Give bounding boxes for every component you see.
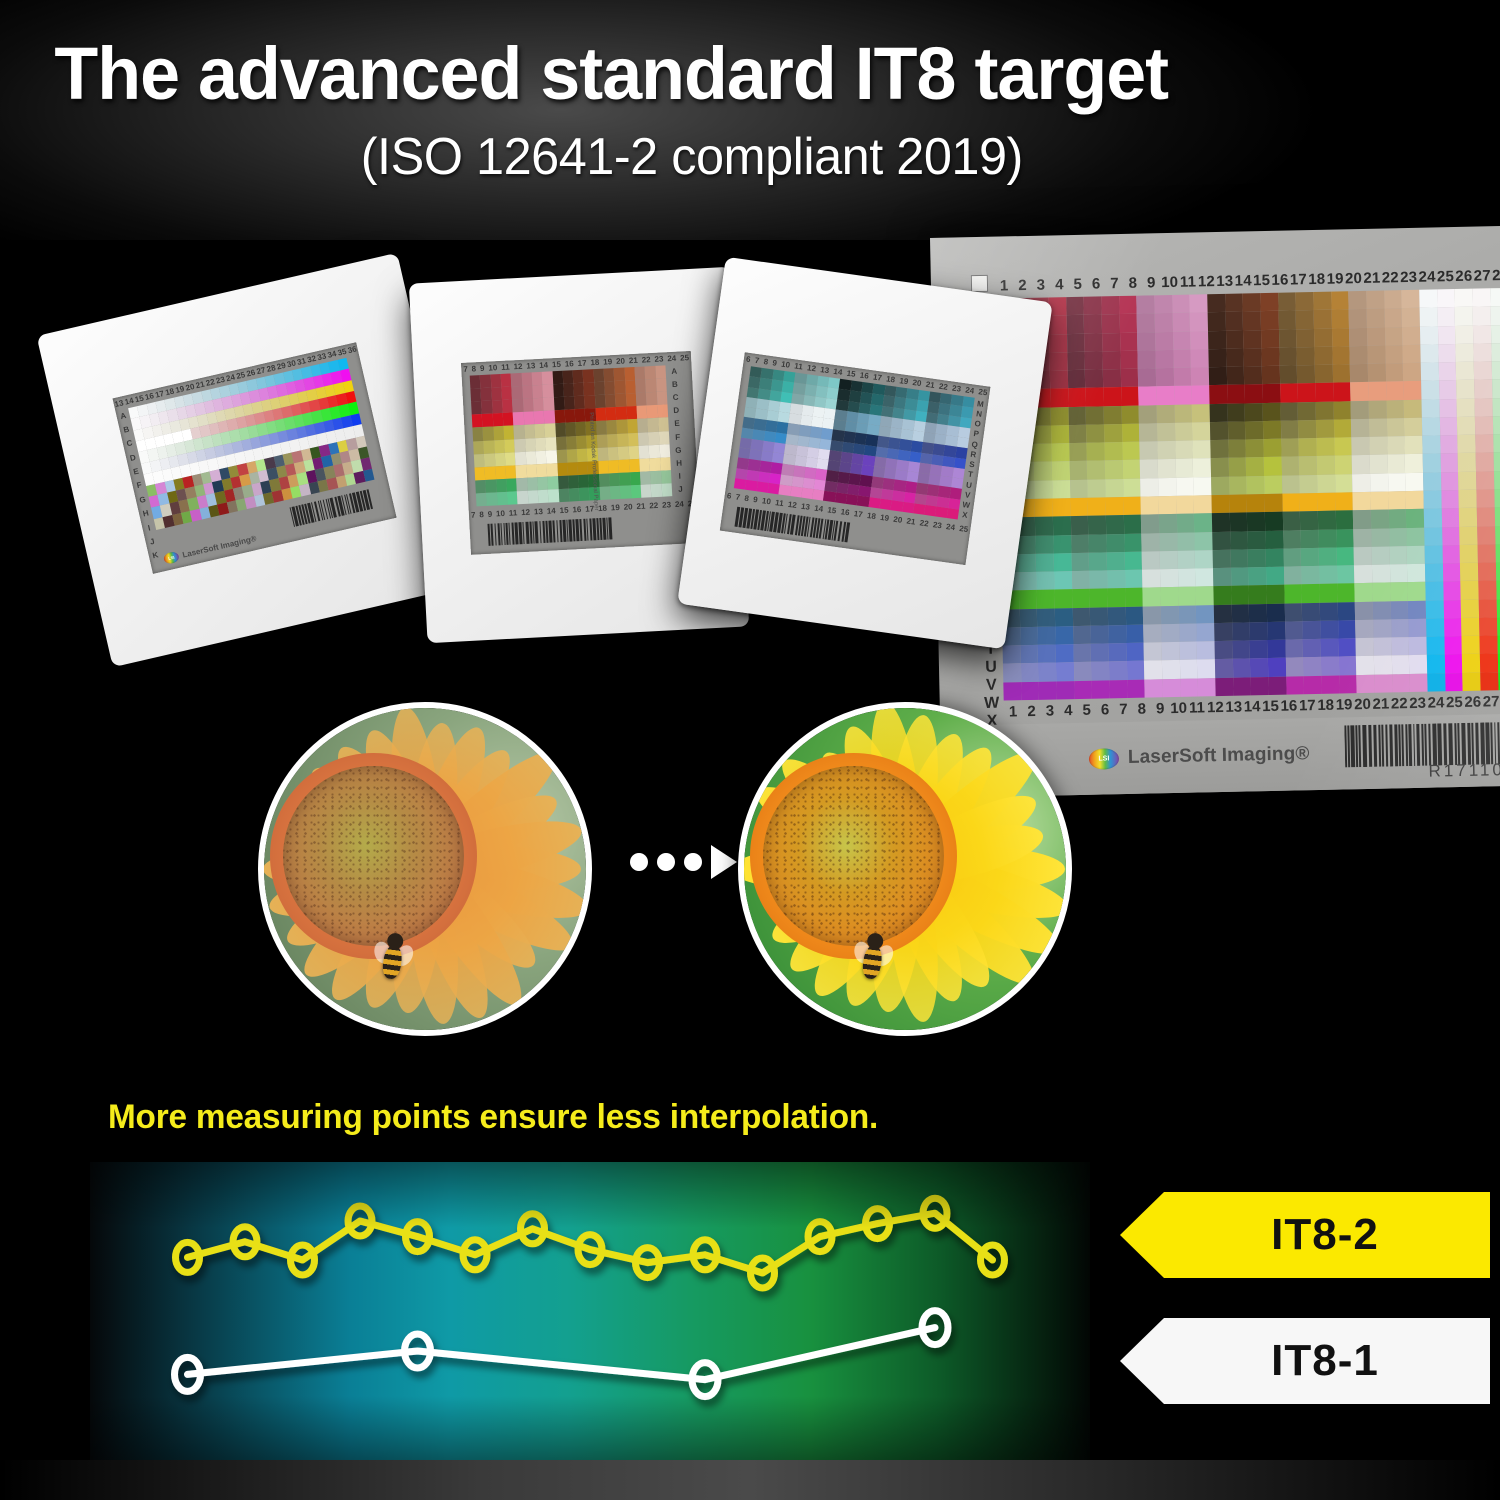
color-patch	[1490, 288, 1500, 307]
color-patch	[1121, 387, 1139, 406]
color-patch	[1297, 383, 1315, 402]
color-patch	[1084, 333, 1102, 352]
row-letter: J	[678, 485, 683, 494]
color-patch	[1105, 497, 1123, 516]
column-number: 8	[1124, 274, 1143, 291]
color-patch	[1496, 562, 1500, 581]
column-number: 9	[1142, 274, 1161, 291]
color-patch	[1478, 562, 1496, 581]
color-patch	[506, 478, 517, 492]
color-patch	[1143, 588, 1161, 607]
slide-right: 678910111213141516171819202122232425 MNO…	[677, 257, 1052, 650]
color-patch	[1003, 664, 1021, 683]
row-letter: X	[962, 511, 969, 521]
color-patch	[1194, 513, 1212, 532]
color-patch	[1283, 548, 1301, 567]
color-patch	[1368, 382, 1386, 401]
color-patch	[1421, 399, 1439, 418]
color-patch	[546, 450, 557, 464]
color-patch	[1476, 453, 1494, 472]
color-patch	[1127, 661, 1145, 680]
color-patch	[1066, 297, 1084, 316]
color-patch	[1179, 623, 1197, 642]
color-patch	[1284, 585, 1302, 604]
color-patch	[562, 370, 573, 384]
color-patch	[1352, 455, 1370, 474]
color-patch	[1421, 381, 1439, 400]
row-letter: O	[974, 419, 981, 429]
color-patch	[638, 432, 649, 446]
column-number: 26	[1454, 267, 1473, 284]
color-patch	[1212, 531, 1230, 550]
color-patch	[1300, 511, 1318, 530]
color-patch	[1142, 551, 1160, 570]
color-patch	[1139, 423, 1157, 442]
color-patch	[1228, 421, 1246, 440]
column-number: 19	[899, 376, 909, 386]
color-patch	[1049, 334, 1067, 353]
color-patch	[1229, 494, 1247, 513]
color-patch	[1278, 311, 1296, 330]
color-patch	[1162, 679, 1180, 698]
color-patch	[626, 406, 637, 420]
color-patch	[648, 431, 659, 445]
color-patch	[1349, 291, 1367, 310]
color-patch	[1407, 564, 1425, 583]
color-patch	[1443, 600, 1461, 619]
color-patch	[1086, 388, 1104, 407]
column-number: 24	[225, 373, 236, 384]
color-patch	[1339, 657, 1357, 676]
color-patch	[1249, 622, 1267, 641]
color-patch	[1386, 381, 1404, 400]
color-patch	[1474, 361, 1492, 380]
column-number: 9	[1151, 700, 1170, 717]
color-patch	[1406, 509, 1424, 528]
color-patch	[1370, 455, 1388, 474]
color-patch	[1303, 639, 1321, 658]
color-patch	[576, 435, 587, 449]
color-patch	[1159, 514, 1177, 533]
color-patch	[1073, 644, 1091, 663]
column-number: 12	[1197, 273, 1216, 290]
legend-tag-it8-1: IT8-1	[1120, 1318, 1490, 1404]
row-letter: U	[966, 480, 973, 490]
color-patch	[1474, 398, 1492, 417]
color-patch	[573, 370, 584, 384]
color-patch	[1320, 620, 1338, 639]
color-patch	[1458, 471, 1476, 490]
color-patch	[1268, 658, 1286, 677]
color-patch	[1390, 601, 1408, 620]
color-patch	[1172, 295, 1190, 314]
color-patch	[1230, 531, 1248, 550]
color-patch	[1479, 617, 1497, 636]
color-patch	[1248, 531, 1266, 550]
color-patch	[1190, 331, 1208, 350]
color-patch	[1334, 419, 1352, 438]
column-number: 22	[649, 501, 658, 510]
color-patch	[1422, 436, 1440, 455]
color-patch	[1177, 532, 1195, 551]
color-patch	[1108, 607, 1126, 626]
column-number: 21	[1363, 269, 1382, 286]
column-number: 24	[946, 522, 956, 532]
color-patch	[1402, 308, 1420, 327]
color-patch	[556, 436, 567, 450]
column-number: 11	[794, 361, 804, 371]
color-patch	[1196, 623, 1214, 642]
color-patch	[1231, 567, 1249, 586]
color-patch	[1320, 639, 1338, 658]
color-patch	[1155, 331, 1173, 350]
color-patch	[1215, 677, 1233, 696]
color-patch	[1070, 479, 1088, 498]
color-patch	[1439, 380, 1457, 399]
color-patch	[1280, 384, 1298, 403]
color-patch	[1460, 563, 1478, 582]
color-patch	[1402, 290, 1420, 309]
color-patch	[1350, 382, 1368, 401]
color-patch	[1142, 569, 1160, 588]
color-patch	[554, 410, 565, 424]
color-patch	[1036, 553, 1054, 572]
color-patch	[552, 371, 563, 385]
color-patch	[1124, 551, 1142, 570]
color-patch	[1443, 581, 1461, 600]
color-patch	[1490, 306, 1500, 325]
color-patch	[617, 420, 628, 434]
bottom-fade-strip	[0, 1460, 1500, 1500]
color-patch	[1317, 456, 1335, 475]
color-patch	[1472, 288, 1490, 307]
color-patch	[470, 388, 481, 402]
color-patch	[1301, 566, 1319, 585]
color-patch	[577, 448, 588, 462]
color-patch	[1388, 473, 1406, 492]
color-patch	[475, 480, 486, 494]
color-patch	[1385, 327, 1403, 346]
color-patch	[1054, 571, 1072, 590]
color-patch	[1373, 638, 1391, 657]
color-patch	[1286, 676, 1304, 695]
color-patch	[608, 447, 619, 461]
color-patch	[1089, 570, 1107, 589]
color-patch	[564, 396, 575, 410]
color-patch	[1072, 571, 1090, 590]
color-patch	[1279, 347, 1297, 366]
color-patch	[1337, 602, 1355, 621]
column-number: 14	[124, 396, 135, 407]
slide-center-patch-grid	[470, 365, 673, 506]
color-patch	[524, 425, 535, 439]
color-patch	[620, 485, 631, 499]
color-patch	[1405, 454, 1423, 473]
color-patch	[1285, 639, 1303, 658]
color-patch	[1440, 435, 1458, 454]
color-patch	[1208, 349, 1226, 368]
color-patch	[1461, 581, 1479, 600]
color-patch	[1246, 458, 1264, 477]
color-patch	[650, 471, 661, 485]
slide-center-window: 78910111213141516171819202122232425 ABCD…	[461, 351, 701, 555]
color-patch	[1233, 659, 1251, 678]
color-patch	[564, 409, 575, 423]
color-patch	[1388, 509, 1406, 528]
color-patch	[496, 479, 507, 493]
color-patch	[1248, 549, 1266, 568]
color-patch	[1493, 434, 1500, 453]
column-number: 17	[1289, 271, 1308, 288]
color-patch	[1122, 424, 1140, 443]
color-patch	[1408, 619, 1426, 638]
color-patch	[1232, 641, 1250, 660]
color-patch	[1053, 535, 1071, 554]
color-patch	[1371, 528, 1389, 547]
color-patch	[1107, 588, 1125, 607]
column-number: 30	[286, 358, 297, 369]
color-patch	[558, 488, 569, 502]
row-letter: H	[142, 509, 150, 519]
color-patch	[1317, 474, 1335, 493]
color-patch	[606, 420, 617, 434]
color-patch	[1126, 625, 1144, 644]
color-patch	[584, 395, 595, 409]
color-patch	[597, 447, 608, 461]
column-number: 21	[636, 502, 645, 511]
color-patch	[636, 393, 647, 407]
column-number: 15	[552, 360, 561, 369]
color-patch	[573, 383, 584, 397]
color-patch	[1038, 663, 1056, 682]
color-patch	[1074, 662, 1092, 681]
color-patch	[1284, 566, 1302, 585]
column-number: 22	[938, 382, 948, 392]
color-patch	[482, 414, 493, 428]
color-patch	[1264, 475, 1282, 494]
column-number: 11	[501, 363, 510, 372]
color-patch	[1282, 512, 1300, 531]
column-number: 20	[1344, 269, 1363, 286]
color-patch	[1140, 478, 1158, 497]
column-number: 19	[1335, 696, 1354, 713]
color-patch	[1246, 439, 1264, 458]
color-patch	[1175, 441, 1193, 460]
column-number: 5	[1077, 701, 1096, 718]
color-patch	[527, 490, 538, 504]
color-patch	[495, 466, 506, 480]
column-number: 7	[1105, 274, 1124, 291]
color-patch	[1244, 366, 1262, 385]
color-patch	[1214, 604, 1232, 623]
color-patch	[1138, 387, 1156, 406]
color-patch	[1052, 498, 1070, 517]
color-patch	[1074, 680, 1092, 699]
color-patch	[1227, 403, 1245, 422]
color-patch	[1157, 423, 1175, 442]
registration-mark-icon	[971, 275, 988, 292]
column-number: 3	[1032, 276, 1051, 293]
color-patch	[1372, 565, 1390, 584]
color-patch	[641, 484, 652, 498]
color-patch	[534, 424, 545, 438]
color-patch	[1444, 636, 1462, 655]
row-letter: Q	[971, 439, 978, 449]
color-patch	[569, 488, 580, 502]
color-patch	[1316, 438, 1334, 457]
color-patch	[1213, 550, 1231, 569]
color-patch	[1385, 345, 1403, 364]
column-number: 24	[965, 385, 975, 395]
color-patch	[1056, 663, 1074, 682]
color-patch	[1071, 516, 1089, 535]
color-patch	[1139, 405, 1157, 424]
color-patch	[1370, 473, 1388, 492]
chart-plot-area	[90, 1162, 1090, 1462]
color-patch	[1264, 457, 1282, 476]
color-patch	[1207, 294, 1225, 313]
color-patch	[1106, 534, 1124, 553]
color-patch	[1455, 325, 1473, 344]
color-patch	[1314, 328, 1332, 347]
row-letter: C	[126, 439, 134, 449]
column-number: 15	[559, 506, 568, 515]
color-patch	[1425, 582, 1443, 601]
color-patch	[503, 413, 514, 427]
color-patch	[1247, 512, 1265, 531]
color-patch	[1035, 517, 1053, 536]
color-patch	[1052, 462, 1070, 481]
color-patch	[1420, 326, 1438, 345]
color-patch	[1442, 545, 1460, 564]
column-number: 13	[534, 507, 543, 516]
column-number: 24	[675, 500, 684, 509]
color-patch	[575, 409, 586, 423]
color-patch	[1350, 346, 1368, 365]
column-number: 23	[1408, 694, 1427, 711]
color-patch	[1193, 477, 1211, 496]
color-patch	[1315, 383, 1333, 402]
color-patch	[1263, 421, 1281, 440]
chart-series-it8-2	[176, 1198, 1005, 1288]
color-patch	[1339, 675, 1357, 694]
color-patch	[1425, 563, 1443, 582]
color-patch	[542, 384, 553, 398]
column-number: 6	[1096, 701, 1115, 718]
color-patch	[485, 466, 496, 480]
color-patch	[1019, 590, 1037, 609]
color-patch	[599, 486, 610, 500]
color-patch	[1141, 496, 1159, 515]
color-patch	[1495, 544, 1500, 563]
color-patch	[1244, 348, 1262, 367]
color-patch	[1437, 289, 1455, 308]
column-number: 19	[1326, 270, 1345, 287]
color-patch	[1125, 588, 1143, 607]
color-patch	[1124, 533, 1142, 552]
color-patch	[1392, 656, 1410, 675]
color-patch	[1084, 296, 1102, 315]
color-patch	[1050, 370, 1068, 389]
color-patch	[1355, 601, 1373, 620]
color-patch	[630, 485, 641, 499]
color-patch	[1174, 386, 1192, 405]
color-patch	[536, 463, 547, 477]
color-patch	[1278, 292, 1296, 311]
column-number: 15	[1261, 697, 1280, 714]
row-letter: B	[123, 425, 131, 435]
color-patch	[1106, 515, 1124, 534]
color-patch	[1037, 608, 1055, 627]
color-patch	[1474, 380, 1492, 399]
color-patch	[523, 399, 534, 413]
color-patch	[1302, 603, 1320, 622]
row-letter: V	[964, 490, 971, 500]
color-patch	[1462, 654, 1480, 673]
color-patch	[1461, 617, 1479, 636]
color-patch	[1444, 618, 1462, 637]
column-number: 18	[598, 504, 607, 513]
column-number: 6	[726, 491, 732, 501]
column-number: 22	[641, 355, 650, 364]
sunflower-seed-texture	[283, 766, 463, 946]
color-patch	[1331, 310, 1349, 329]
column-number: 6	[745, 355, 751, 365]
color-patch	[503, 426, 514, 440]
color-patch	[1161, 624, 1179, 643]
color-patch	[1019, 608, 1037, 627]
column-number: 19	[603, 357, 612, 366]
color-patch	[1246, 476, 1264, 495]
color-patch	[1335, 492, 1353, 511]
color-patch	[1303, 657, 1321, 676]
color-patch	[1248, 567, 1266, 586]
row-letter: P	[973, 429, 980, 439]
color-patch	[1350, 364, 1368, 383]
color-patch	[596, 421, 607, 435]
color-patch	[1193, 459, 1211, 478]
color-patch	[1067, 352, 1085, 371]
color-patch	[1319, 547, 1337, 566]
color-patch	[538, 490, 549, 504]
color-patch	[1020, 627, 1038, 646]
color-patch	[1244, 384, 1262, 403]
slide-left-window: 1314151617181920212223242526272829303132…	[113, 342, 397, 574]
color-patch	[532, 385, 543, 399]
color-patch	[1102, 314, 1120, 333]
color-patch	[1102, 351, 1120, 370]
color-patch	[1299, 438, 1317, 457]
color-patch	[1103, 369, 1121, 388]
color-patch	[1374, 674, 1392, 693]
color-patch	[619, 472, 630, 486]
color-patch	[1494, 507, 1500, 526]
color-patch	[1409, 637, 1427, 656]
color-patch	[1055, 626, 1073, 645]
color-patch	[1196, 587, 1214, 606]
color-patch	[1173, 349, 1191, 368]
color-patch	[1439, 399, 1457, 418]
color-patch	[543, 397, 554, 411]
column-number: 9	[480, 364, 485, 373]
color-patch	[1438, 362, 1456, 381]
color-patch	[1158, 459, 1176, 478]
color-patch	[1140, 460, 1158, 479]
row-letter: B	[672, 380, 678, 389]
row-letter: D	[129, 453, 137, 463]
color-patch	[1195, 550, 1213, 569]
color-patch	[1123, 478, 1141, 497]
